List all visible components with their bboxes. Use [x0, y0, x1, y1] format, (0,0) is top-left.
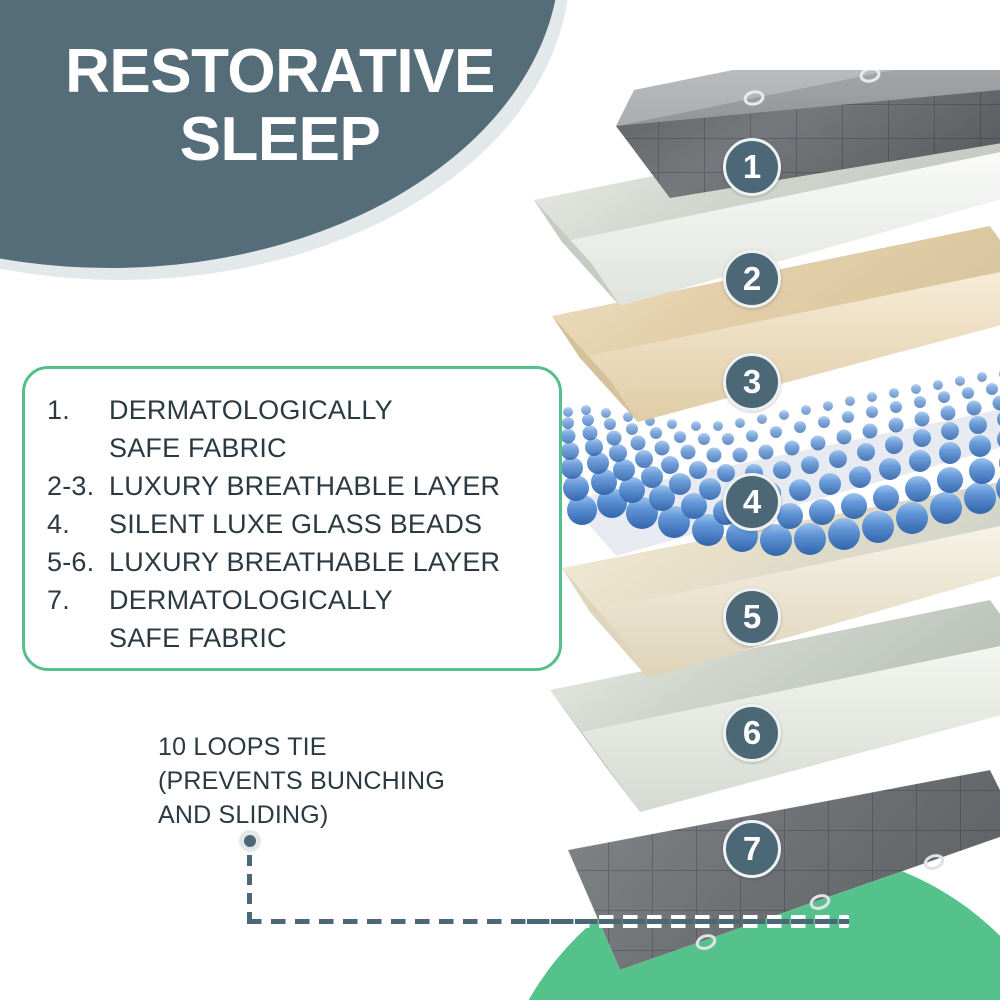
page-title: RESTORATIVE SLEEP	[0, 38, 560, 174]
list-item-number: 4.	[47, 505, 109, 543]
layer-badge-7[interactable]: 7	[723, 820, 781, 878]
layer-badge-3[interactable]: 3	[723, 353, 781, 411]
infographic-canvas: RESTORATIVE SLEEP 1. DERMATOLOGICALLY SA…	[0, 0, 1000, 1000]
list-item-number: 5-6.	[47, 543, 109, 581]
layer-badge-5[interactable]: 5	[723, 588, 781, 646]
list-item: 4. SILENT LUXE GLASS BEADS	[47, 505, 545, 543]
list-item: 1. DERMATOLOGICALLY SAFE FABRIC	[47, 391, 545, 467]
list-item-label: LUXURY BREATHABLE LAYER	[109, 543, 545, 581]
feature-list-box: 1. DERMATOLOGICALLY SAFE FABRIC 2-3. LUX…	[22, 366, 562, 671]
feature-list: 1. DERMATOLOGICALLY SAFE FABRIC 2-3. LUX…	[47, 391, 545, 657]
callout-marker-dot	[244, 835, 256, 847]
list-item: 5-6. LUXURY BREATHABLE LAYER	[47, 543, 545, 581]
layer-badge-4[interactable]: 4	[723, 473, 781, 531]
leader-line-horizontal-top	[527, 919, 849, 924]
list-item-label: LUXURY BREATHABLE LAYER	[109, 467, 545, 505]
list-item: 2-3. LUXURY BREATHABLE LAYER	[47, 467, 545, 505]
layer-badge-1[interactable]: 1	[723, 138, 781, 196]
layer-badge-6[interactable]: 6	[723, 704, 781, 762]
list-item-number: 1.	[47, 391, 109, 429]
list-item-label: DERMATOLOGICALLY SAFE FABRIC	[109, 581, 545, 657]
list-item-label: DERMATOLOGICALLY SAFE FABRIC	[109, 391, 545, 467]
list-item-number: 7.	[47, 581, 109, 619]
loops-callout-label: 10 LOOPS TIE (PREVENTS BUNCHING AND SLID…	[158, 730, 498, 832]
list-item: 7. DERMATOLOGICALLY SAFE FABRIC	[47, 581, 545, 657]
list-item-number: 2-3.	[47, 467, 109, 505]
leader-line-vertical	[247, 855, 252, 923]
layer-badge-2[interactable]: 2	[723, 250, 781, 308]
list-item-label: SILENT LUXE GLASS BEADS	[109, 505, 545, 543]
